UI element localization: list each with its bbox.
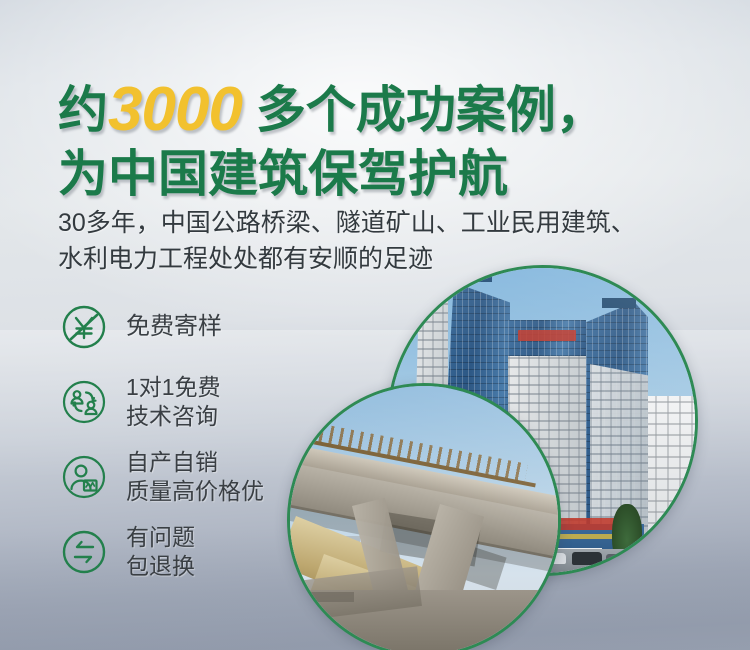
feature-label: 有问题 包退换 <box>126 523 195 582</box>
feature-list: 免费寄样 1对1免费 技术咨询 <box>58 296 264 596</box>
feature-item-returns: 有问题 包退换 <box>58 521 264 583</box>
feature-label: 1对1免费 技术咨询 <box>126 373 221 432</box>
headline-line-2: 为中国建筑保驾护航 <box>58 149 718 200</box>
promo-banner: 约3000 多个成功案例， 为中国建筑保驾护航 30多年，中国公路桥梁、隧道矿山… <box>0 0 750 650</box>
feature-line-1: 自产自销 <box>126 448 264 477</box>
headline-suffix: 多个成功案例， <box>242 82 606 138</box>
no-fee-yuan-icon <box>58 301 110 353</box>
bridge-photo <box>287 383 561 650</box>
two-people-exchange-icon <box>58 376 110 428</box>
feature-item-consultation: 1对1免费 技术咨询 <box>58 371 264 433</box>
headline-line-1: 约3000 多个成功案例， <box>58 78 718 141</box>
headline: 约3000 多个成功案例， 为中国建筑保驾护航 <box>58 78 718 200</box>
subtitle: 30多年，中国公路桥梁、隧道矿山、工业民用建筑、 水利电力工程处处都有安顺的足迹 <box>58 205 718 278</box>
feature-line-2: 质量高价格优 <box>126 477 264 506</box>
feature-label: 自产自销 质量高价格优 <box>126 448 264 507</box>
subtitle-line-1: 30多年，中国公路桥梁、隧道矿山、工业民用建筑、 <box>58 205 718 241</box>
headline-prefix: 约 <box>58 82 108 138</box>
feature-item-free-sample: 免费寄样 <box>58 296 264 358</box>
feature-line-1: 免费寄样 <box>126 312 222 343</box>
feature-line-2: 包退换 <box>126 552 195 581</box>
feature-label: 免费寄样 <box>126 312 222 343</box>
exchange-arrows-icon <box>58 526 110 578</box>
feature-line-1: 有问题 <box>126 523 195 552</box>
feature-line-1: 1对1免费 <box>126 373 221 402</box>
person-chart-icon <box>58 451 110 503</box>
feature-line-2: 技术咨询 <box>126 402 221 431</box>
headline-number: 3000 <box>108 75 242 144</box>
feature-item-self-production: 自产自销 质量高价格优 <box>58 446 264 508</box>
